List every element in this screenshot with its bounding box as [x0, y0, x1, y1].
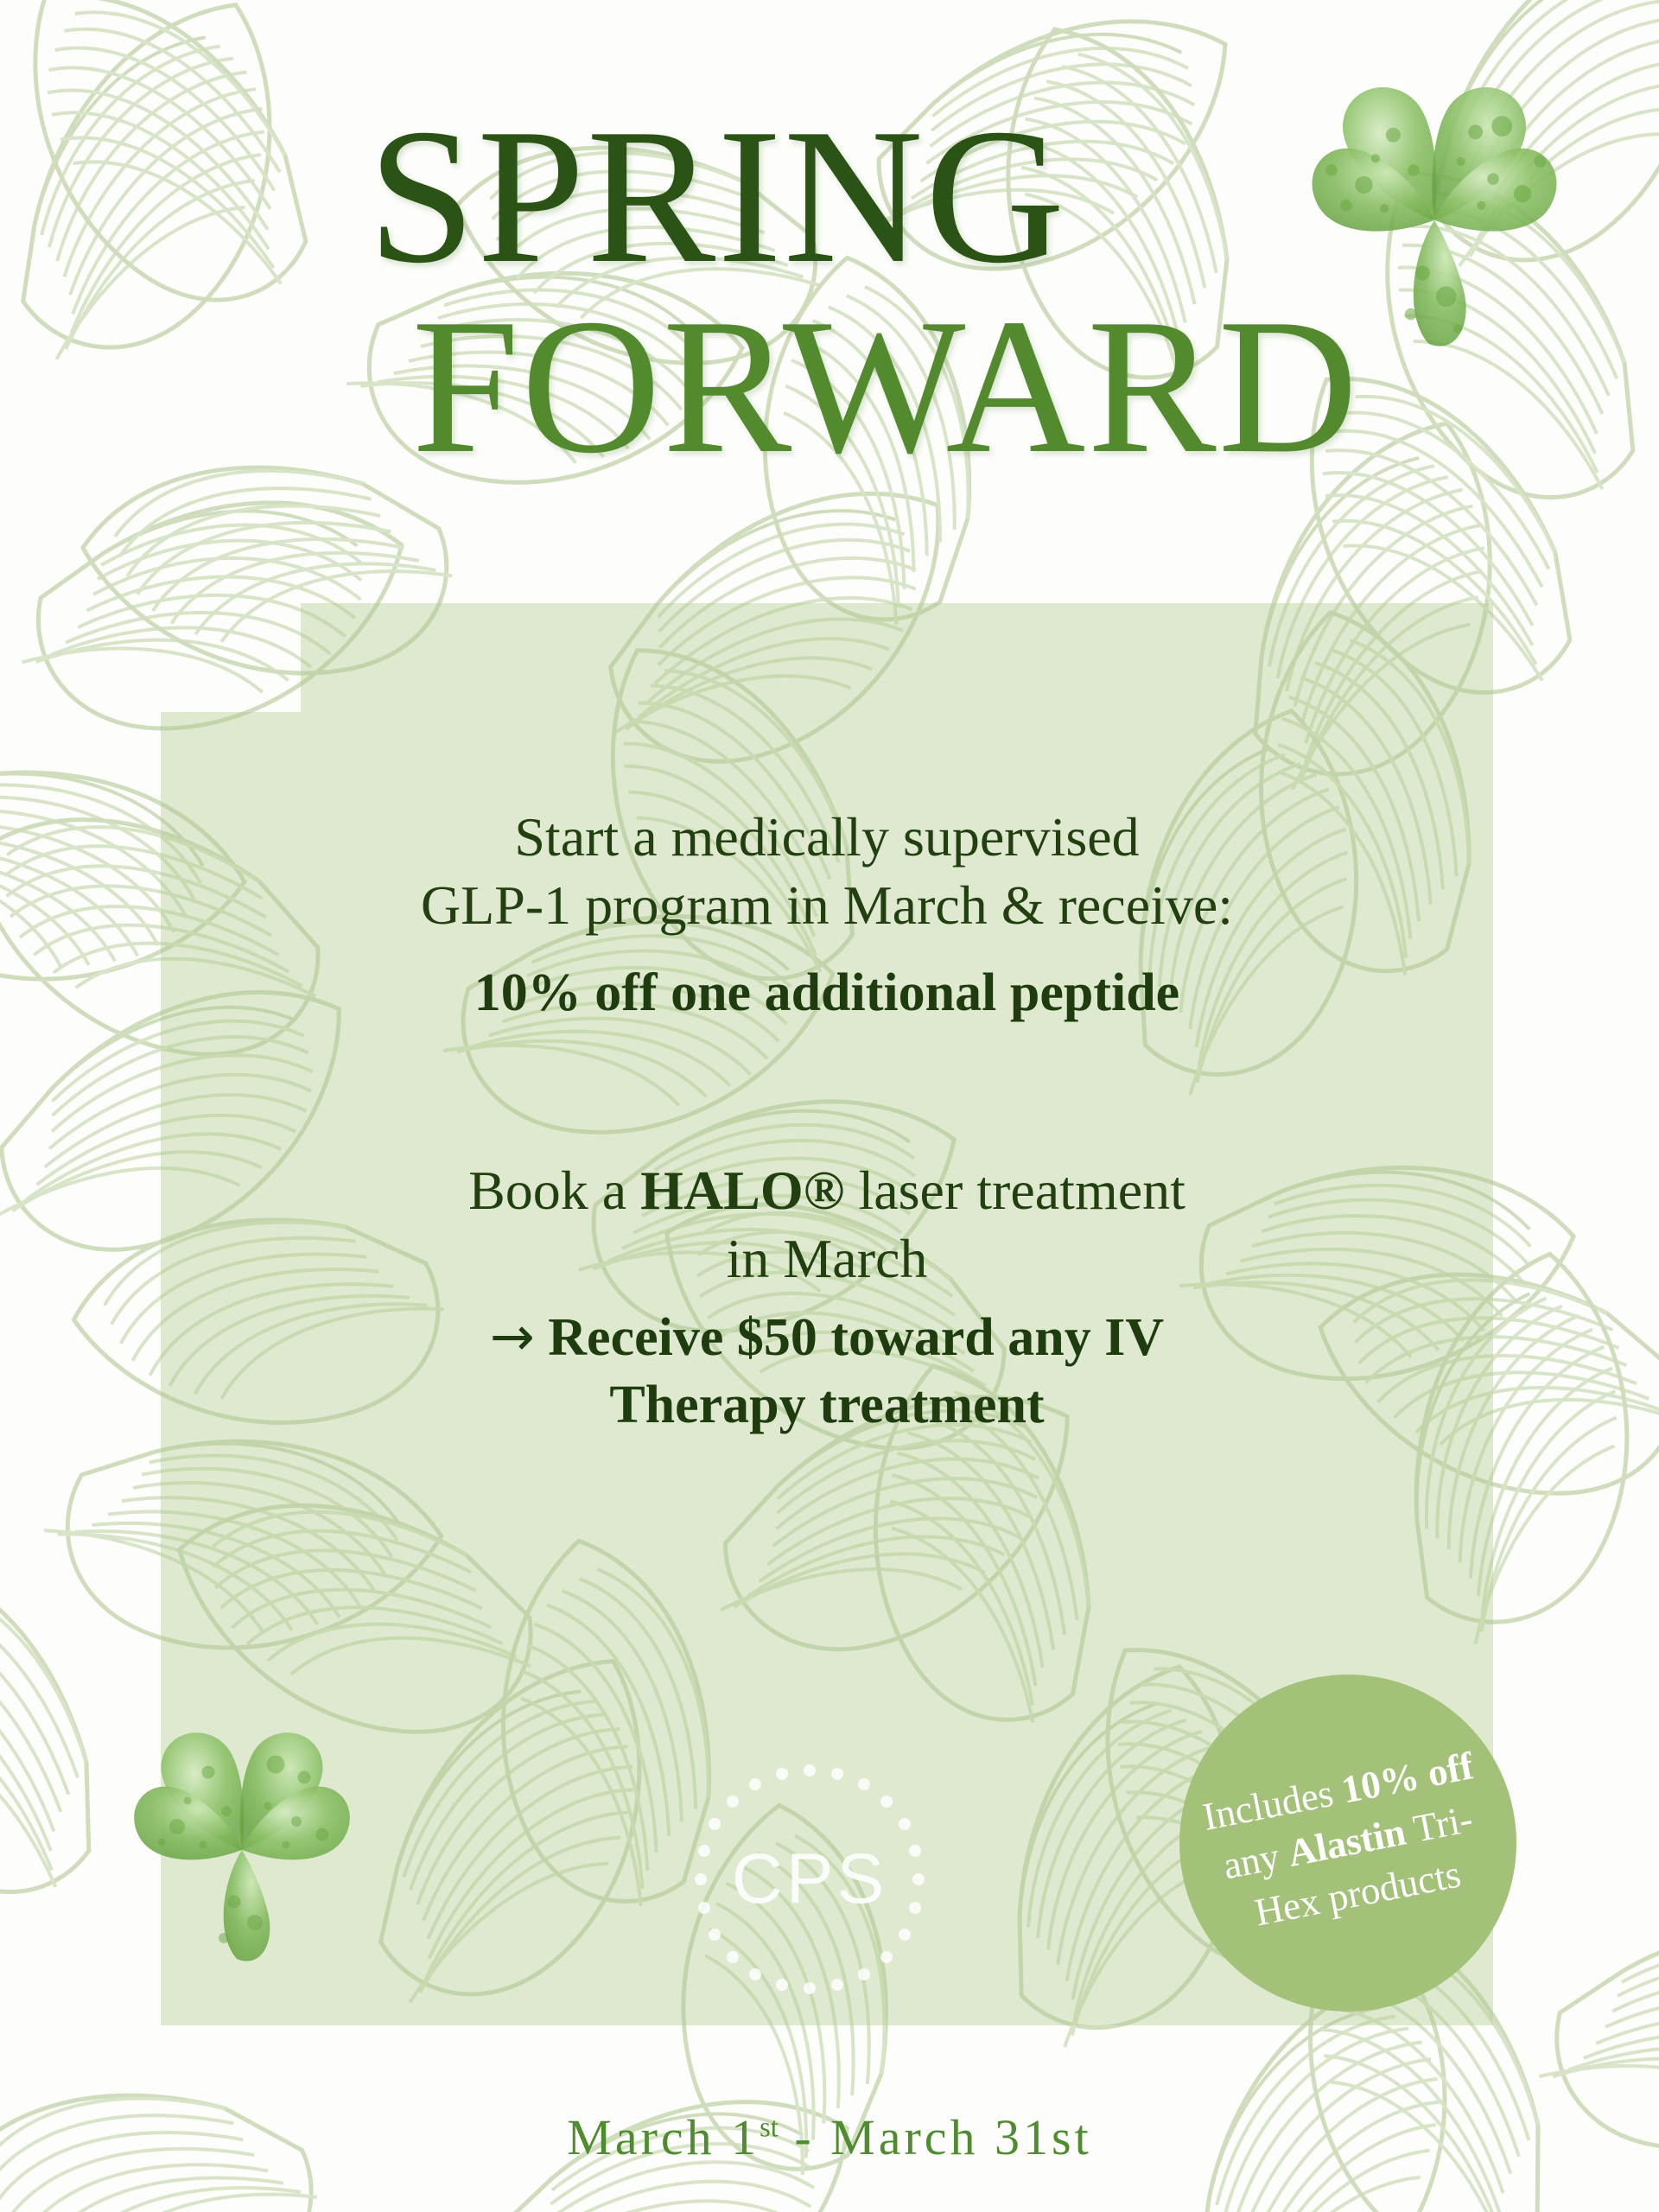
- offer-body: Start a medically supervised GLP-1 progr…: [161, 804, 1493, 1439]
- promotion-date-range: March 1st - March 31st: [0, 2108, 1659, 2166]
- offer2-highlight-text1: Receive $50 toward any IV: [548, 1308, 1164, 1367]
- offer2-line1: Book a HALO® laser treatment: [161, 1157, 1493, 1225]
- headline-line-spring: SPRING: [0, 102, 1659, 292]
- badge-part-2: any: [1219, 1833, 1292, 1888]
- spacer: [161, 1027, 1493, 1157]
- promo-badge: Includes 10% off any Alastin Tri-Hex pro…: [1179, 1675, 1516, 2012]
- spacer: [161, 939, 1493, 960]
- date-ordinal: st: [760, 2113, 779, 2144]
- date-prefix: March 1: [567, 2109, 760, 2165]
- promo-flyer: CPS SPRING FORWARD Start a medically sup…: [0, 0, 1659, 2212]
- offer2-prefix: Book a: [468, 1160, 640, 1221]
- headline-line-forward: FORWARD: [0, 292, 1659, 482]
- promo-badge-text: Includes 10% off any Alastin Tri-Hex pro…: [1193, 1739, 1503, 1946]
- page-title: SPRING FORWARD: [0, 102, 1659, 481]
- offer2-brand: HALO®: [640, 1160, 844, 1221]
- offer2-suffix: laser treatment: [844, 1160, 1185, 1221]
- content-panel-upper: [301, 603, 1493, 712]
- spacer: [161, 1293, 1493, 1303]
- offer1-line2: GLP-1 program in March & receive:: [161, 872, 1493, 940]
- offer2-highlight-line1: → Receive $50 toward any IV: [161, 1303, 1493, 1372]
- offer1-line1: Start a medically supervised: [161, 804, 1493, 872]
- offer1-highlight: 10% off one additional peptide: [161, 960, 1493, 1027]
- arrow-right-icon: →: [490, 1305, 535, 1368]
- offer2-highlight-line2: Therapy treatment: [161, 1372, 1493, 1440]
- offer2-line2: in March: [161, 1225, 1493, 1294]
- date-suffix: - March 31st: [779, 2109, 1092, 2165]
